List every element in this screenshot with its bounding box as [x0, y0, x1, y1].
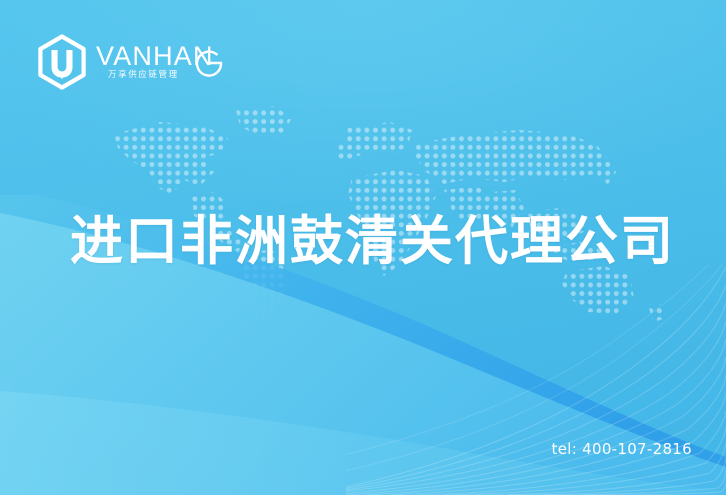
page-title: 进口非洲鼓清关代理公司 [70, 212, 675, 273]
hexagon-u-icon [34, 34, 90, 90]
brand-subtitle-cn: 万享供应链管理 [108, 70, 179, 79]
brand-logo[interactable]: VANHAN 万享供应链管理 [34, 33, 230, 91]
brand-wordmark: VANHAN 万享供应链管理 [96, 34, 230, 90]
brand-letter-g-icon [192, 46, 226, 80]
contact-phone[interactable]: tel: 400-107-2816 [552, 440, 692, 458]
promo-banner: VANHAN 万享供应链管理 进口非洲鼓清关代理公司 tel: 400-107-… [0, 0, 726, 495]
